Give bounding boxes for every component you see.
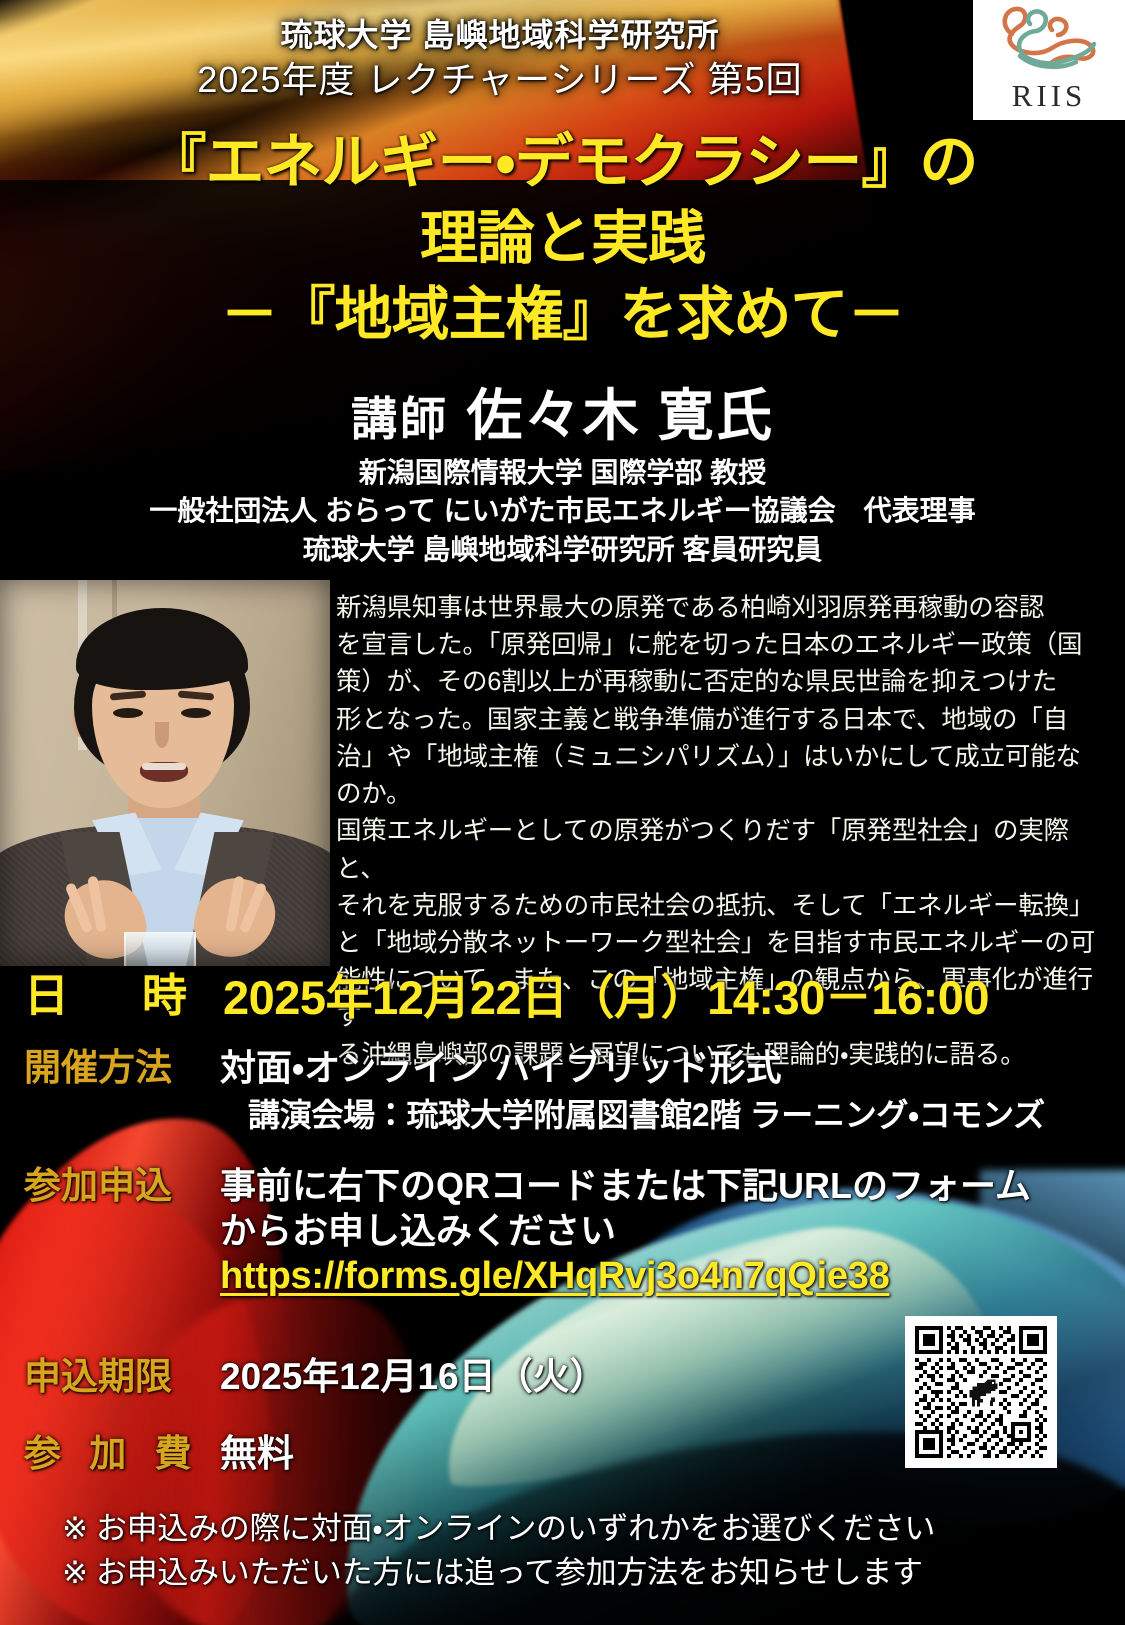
fee-label: 参 加 費	[24, 1431, 220, 1477]
title-line-2: 理論と実践	[0, 201, 1125, 277]
abstract-line-4: 形となった。国家主義と戦争準備が進行する日本で、地域の「自	[336, 702, 1098, 739]
riis-logo: RIIS	[973, 0, 1125, 120]
abstract-line-3: 策）が、その6割以上が再稼動に否定的な県民世論を抑えつけた	[336, 664, 1098, 701]
speaker-affiliations: 新潟国際情報大学 国際学部 教授 一般社団法人 おらって にいがた市民エネルギー…	[0, 454, 1125, 570]
registration-qr-code[interactable]	[905, 1316, 1057, 1468]
abstract-line-1: 新潟県知事は世界最大の原発である柏崎刈羽原発再稼動の容認	[336, 590, 1098, 627]
apply-value-line-1: 事前に右下のQRコードまたは下記URLのフォーム	[220, 1163, 1031, 1208]
speaker-affiliation-2: 一般社団法人 おらって にいがた市民エネルギー協議会 代表理事	[0, 492, 1125, 531]
method-value: 対面・オンライン ハイブリッド形式	[220, 1045, 782, 1090]
abstract-line-2: を宣言した。「原発回帰」に舵を切った日本のエネルギー政策（国	[336, 627, 1098, 664]
speaker-affiliation-1: 新潟国際情報大学 国際学部 教授	[0, 454, 1125, 493]
note-2: ※ お申込みいただいた方には追って参加方法をお知らせします	[62, 1552, 1062, 1594]
page-title: 『エネルギー・デモクラシー』の 理論と実践 －『地域主権』を求めて－	[0, 124, 1125, 353]
info-row-apply: 参加申込 事前に右下のQRコードまたは下記URLのフォーム からお申し込みくださ…	[0, 1163, 1125, 1299]
apply-label: 参加申込	[24, 1163, 220, 1209]
venue-value: 講演会場：琉球大学附属図書館2階 ラーニング・コモンズ	[224, 1095, 1125, 1137]
abstract-line-6: 国策エネルギーとしての原発がつくりだす「原発型社会」の実際と、	[336, 813, 1098, 887]
apply-value-block: 事前に右下のQRコードまたは下記URLのフォーム からお申し込みください htt…	[220, 1163, 1031, 1299]
info-row-method: 開催方法 対面・オンライン ハイブリッド形式	[0, 1045, 1125, 1091]
title-line-3: －『地域主権』を求めて－	[0, 277, 1125, 353]
speaker-name-row: 講師 佐々木 寛氏	[0, 385, 1125, 448]
riis-emblem-icon	[990, 4, 1108, 76]
speaker-name: 佐々木 寛氏	[467, 384, 775, 447]
note-1: ※ お申込みの際に対面・オンラインのいずれかをお選びください	[62, 1508, 1062, 1550]
method-label: 開催方法	[24, 1045, 220, 1091]
poster-header: 琉球大学 島嶼地域科学研究所 2025年度 レクチャーシリーズ 第5回	[0, 14, 1000, 104]
speaker-photo	[0, 580, 330, 966]
qr-code-icon	[915, 1326, 1047, 1458]
fee-value: 無料	[220, 1431, 294, 1478]
content-layer: 琉球大学 島嶼地域科学研究所 2025年度 レクチャーシリーズ 第5回 RIIS…	[0, 0, 1125, 1625]
poster-root: 琉球大学 島嶼地域科学研究所 2025年度 レクチャーシリーズ 第5回 RIIS…	[0, 0, 1125, 1625]
deadline-value: 2025年12月16日（火）	[220, 1354, 607, 1401]
info-row-datetime: 日 時 2025年12月22日（月）14:30－16:00	[0, 968, 1125, 1027]
apply-value-line-2: からお申し込みください	[220, 1208, 1031, 1253]
datetime-value: 2025年12月22日（月）14:30－16:00	[223, 968, 989, 1027]
institute-name: 琉球大学 島嶼地域科学研究所	[0, 14, 1000, 56]
speaker-label: 講師	[351, 393, 449, 445]
abstract-line-7: それを克服するための市民社会の抵抗、そして「エネルギー転換」	[336, 888, 1098, 925]
series-name: 2025年度 レクチャーシリーズ 第5回	[0, 56, 1000, 104]
abstract-line-8: と「地域分散ネットーワーク型社会」を目指す市民エネルギーの可	[336, 925, 1098, 962]
speaker-block: 講師 佐々木 寛氏 新潟国際情報大学 国際学部 教授 一般社団法人 おらって に…	[0, 385, 1125, 570]
riis-wordmark: RIIS	[1012, 78, 1087, 114]
registration-url-link[interactable]: https://forms.gle/XHqRvj3o4n7qQie38	[220, 1255, 889, 1298]
footer-notes: ※ お申込みの際に対面・オンラインのいずれかをお選びください ※ お申込みいただ…	[62, 1508, 1062, 1596]
speaker-affiliation-3: 琉球大学 島嶼地域科学研究所 客員研究員	[0, 531, 1125, 570]
photo-vignette	[0, 580, 330, 966]
deadline-label: 申込期限	[24, 1354, 220, 1400]
datetime-label: 日 時	[24, 968, 201, 1024]
abstract-line-5: 治」や「地域主権（ミュニシパリズム）」はいかにして成立可能なのか。	[336, 739, 1098, 813]
title-line-1: 『エネルギー・デモクラシー』の	[0, 124, 1125, 201]
